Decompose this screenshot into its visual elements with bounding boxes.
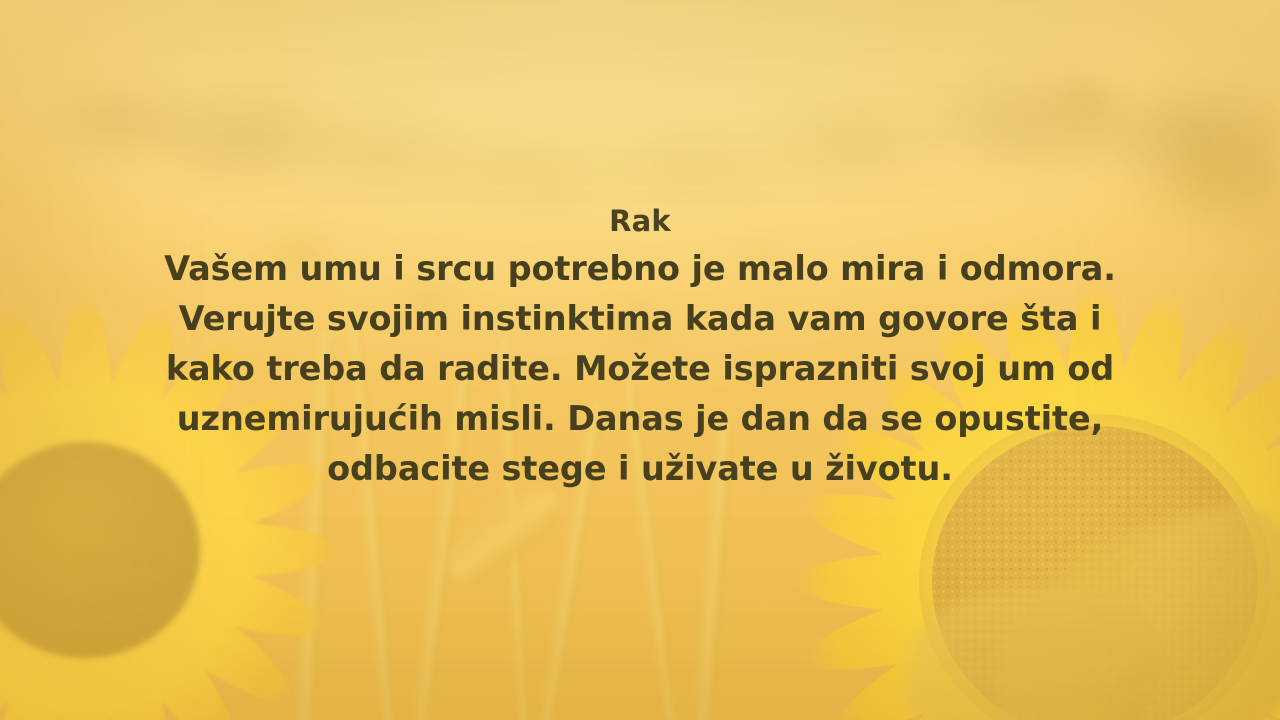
zodiac-sign-title: Rak xyxy=(64,198,1216,244)
horoscope-line: uznemirujućih misli. Danas je dan da se … xyxy=(135,394,1145,444)
quote-card: Rak Vašem umu i srcu potrebno je malo mi… xyxy=(0,0,1280,720)
horoscope-line: Vašem umu i srcu potrebno je malo mira i… xyxy=(135,244,1145,294)
horoscope-text: Vašem umu i srcu potrebno je malo mira i… xyxy=(135,244,1145,494)
quote-block: Rak Vašem umu i srcu potrebno je malo mi… xyxy=(0,198,1280,494)
horoscope-line: odbacite stege i uživate u životu. xyxy=(135,444,1145,494)
horoscope-line: Verujte svojim instinktima kada vam govo… xyxy=(135,294,1145,344)
horoscope-line: kako treba da radite. Možete isprazniti … xyxy=(135,344,1145,394)
